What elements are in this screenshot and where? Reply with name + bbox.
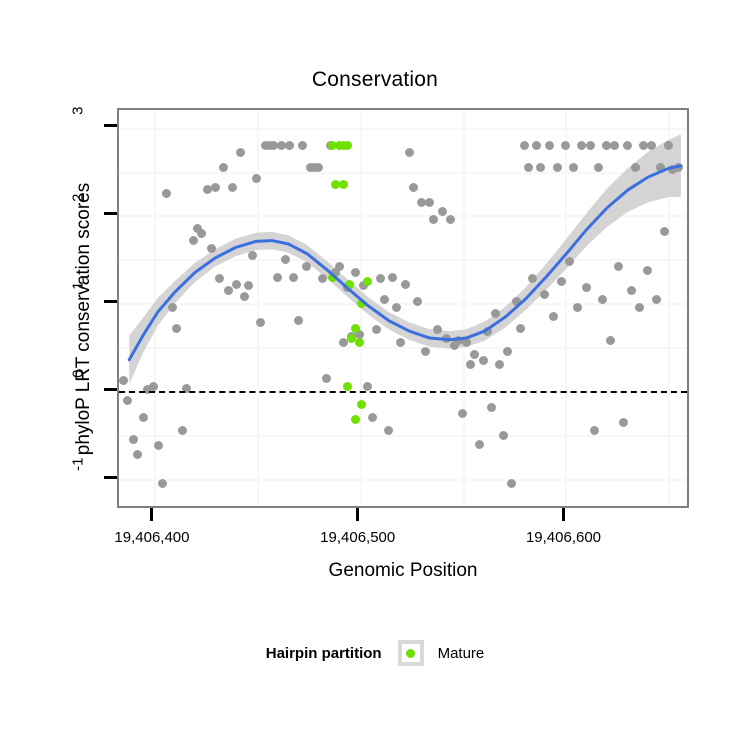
y-tick-label: -1 bbox=[70, 458, 87, 498]
trend-line-path bbox=[129, 166, 681, 360]
legend: Hairpin partition Mature bbox=[0, 640, 750, 666]
y-tick-mark bbox=[104, 124, 117, 127]
x-tick-label: 19,406,600 bbox=[483, 529, 643, 546]
trend-line bbox=[119, 110, 687, 506]
y-tick-label: 3 bbox=[70, 106, 87, 146]
legend-key-mature[interactable] bbox=[398, 640, 424, 666]
x-axis-title: Genomic Position bbox=[117, 560, 689, 582]
x-tick-label: 19,406,400 bbox=[72, 529, 232, 546]
y-tick-mark bbox=[104, 476, 117, 479]
x-tick-mark bbox=[562, 508, 565, 521]
y-tick-mark bbox=[104, 300, 117, 303]
y-tick-label: 0 bbox=[70, 370, 87, 410]
chart-title: Conservation bbox=[0, 68, 750, 92]
x-tick-label: 19,406,500 bbox=[278, 529, 438, 546]
y-tick-label: 2 bbox=[70, 194, 87, 234]
conservation-scatter-figure: Conservation phyloP LRT conservation sco… bbox=[0, 0, 750, 750]
zero-reference-line bbox=[119, 391, 687, 393]
x-tick-mark bbox=[356, 508, 359, 521]
legend-label-mature: Mature bbox=[438, 645, 485, 662]
y-tick-mark bbox=[104, 212, 117, 215]
y-tick-label: 1 bbox=[70, 282, 87, 322]
legend-dot-icon bbox=[406, 649, 415, 658]
x-tick-mark bbox=[150, 508, 153, 521]
plot-panel bbox=[117, 108, 689, 508]
y-tick-mark bbox=[104, 388, 117, 391]
legend-title: Hairpin partition bbox=[266, 645, 382, 662]
